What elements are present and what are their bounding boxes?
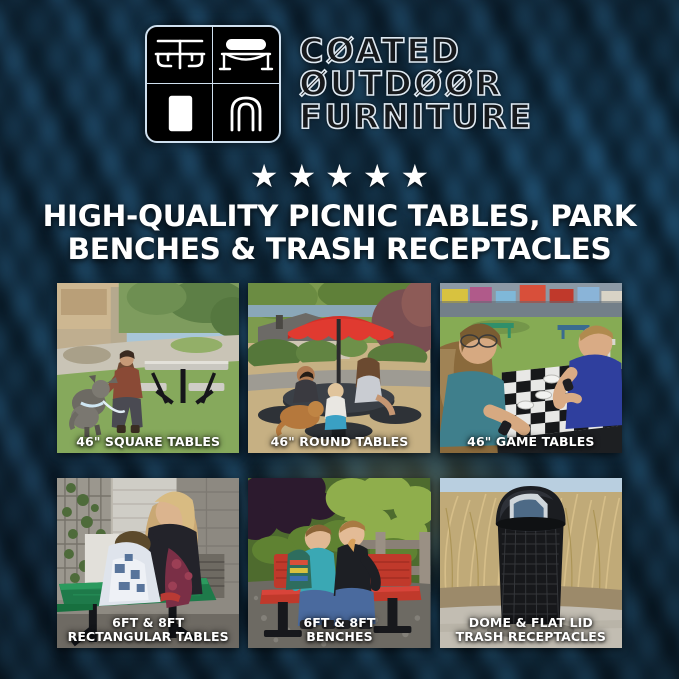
trash-receptacle-icon	[147, 84, 213, 141]
game-tables-photo	[440, 283, 622, 453]
bike-rack-icon	[213, 84, 279, 141]
wordmark-line-2: ØUTDØØR	[299, 68, 533, 100]
star-icon: ★	[401, 160, 430, 192]
caption-line-1: 46" GAME TABLES	[443, 435, 619, 449]
product-grid: 46" SQUARE TABLES	[57, 283, 622, 648]
caption-line-1: 6FT & 8FT	[60, 616, 236, 630]
picnic-table-icon	[147, 27, 213, 84]
headline-line-2: BENCHES & TRASH RECEPTACLES	[30, 233, 649, 266]
brand-logo: CØATED ØUTDØØR FURNITURE	[0, 25, 679, 143]
caption-line-2: BENCHES	[251, 630, 427, 644]
star-icon: ★	[363, 160, 392, 192]
caption-line-1: 46" SQUARE TABLES	[60, 435, 236, 449]
page-title: HIGH-QUALITY PICNIC TABLES, PARK BENCHES…	[30, 200, 649, 267]
star-icon: ★	[325, 160, 354, 192]
product-caption: 46" GAME TABLES	[440, 435, 622, 449]
product-tile-game-tables[interactable]: 46" GAME TABLES	[440, 283, 622, 453]
product-caption: 46" SQUARE TABLES	[57, 435, 239, 449]
park-bench-icon	[213, 27, 279, 84]
product-tile-rectangular-tables[interactable]: 6FT & 8FT RECTANGULAR TABLES	[57, 478, 239, 648]
logo-icon-grid	[145, 25, 281, 143]
round-tables-photo	[248, 283, 430, 453]
caption-line-1: 6FT & 8FT	[251, 616, 427, 630]
product-caption: 6FT & 8FT RECTANGULAR TABLES	[57, 616, 239, 643]
wordmark-line-1: CØATED	[299, 35, 533, 67]
star-rating: ★ ★ ★ ★ ★	[0, 160, 679, 192]
star-icon: ★	[287, 160, 316, 192]
product-caption: 6FT & 8FT BENCHES	[248, 616, 430, 643]
product-tile-trash-receptacles[interactable]: DOME & FLAT LID TRASH RECEPTACLES	[440, 478, 622, 648]
caption-line-2: RECTANGULAR TABLES	[60, 630, 236, 644]
infographic-content: CØATED ØUTDØØR FURNITURE ★ ★ ★ ★ ★ HIGH-…	[0, 0, 679, 679]
brand-wordmark: CØATED ØUTDØØR FURNITURE	[299, 35, 533, 134]
caption-line-2: TRASH RECEPTACLES	[443, 630, 619, 644]
caption-line-1: DOME & FLAT LID	[443, 616, 619, 630]
caption-line-1: 46" ROUND TABLES	[251, 435, 427, 449]
square-tables-photo	[57, 283, 239, 453]
headline-line-1: HIGH-QUALITY PICNIC TABLES, PARK	[30, 200, 649, 233]
product-caption: 46" ROUND TABLES	[248, 435, 430, 449]
product-tile-square-tables[interactable]: 46" SQUARE TABLES	[57, 283, 239, 453]
star-icon: ★	[250, 160, 279, 192]
product-tile-benches[interactable]: 6FT & 8FT BENCHES	[248, 478, 430, 648]
wordmark-line-3: FURNITURE	[299, 101, 533, 133]
product-caption: DOME & FLAT LID TRASH RECEPTACLES	[440, 616, 622, 643]
product-tile-round-tables[interactable]: 46" ROUND TABLES	[248, 283, 430, 453]
